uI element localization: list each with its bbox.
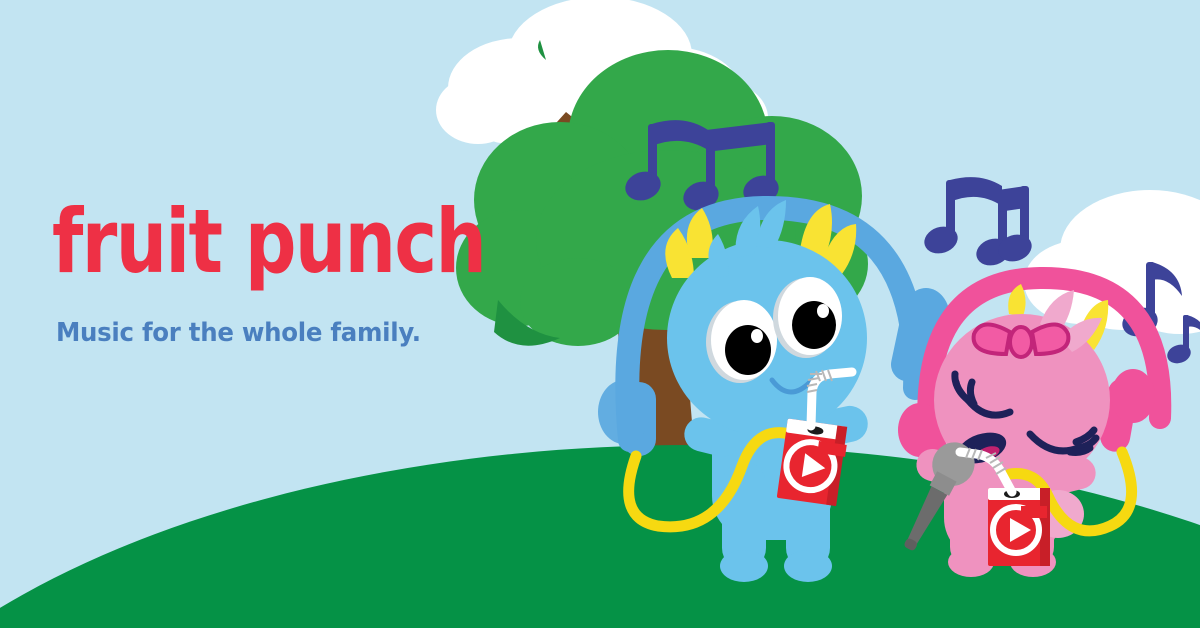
hero-illustration: fruit punch Music for the whole family. — [0, 0, 1200, 628]
pink-character-bow — [974, 324, 1069, 357]
juice-box-pink-character — [988, 488, 1050, 566]
scene-svg — [0, 0, 1200, 628]
